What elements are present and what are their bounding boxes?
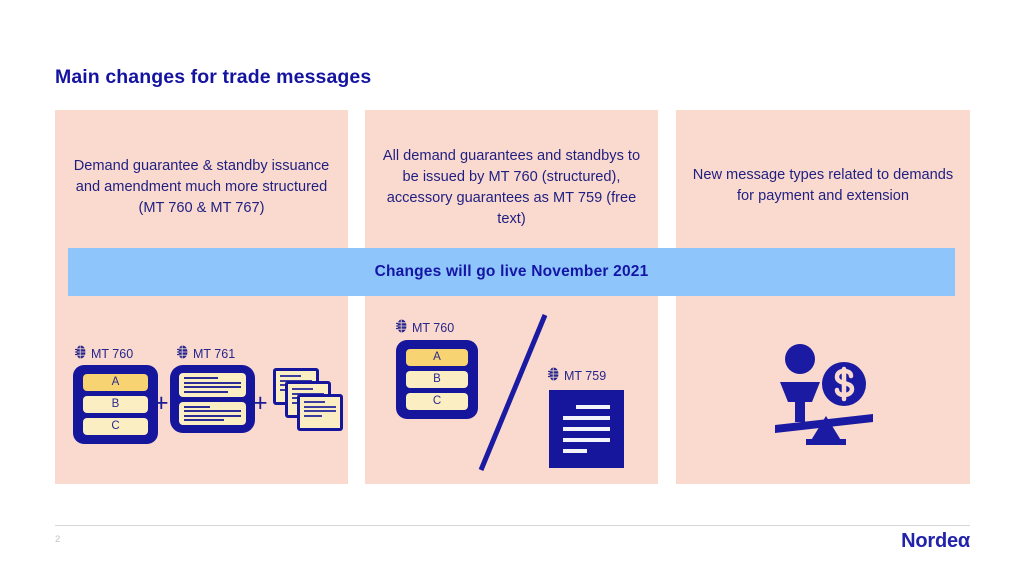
text-line [563,449,587,453]
panel-demand-guarantee: Demand guarantee & standby issuance and … [55,110,348,484]
globe-icon [396,319,407,336]
text-line [292,388,313,390]
globe-icon [548,367,559,384]
stacked-documents-group [273,368,343,438]
panel-3-text: New message types related to demands for… [686,165,960,207]
text-line [184,406,210,408]
text-line [184,377,218,379]
abc-row-b: B [406,371,468,388]
text-line [563,427,610,431]
go-live-banner: Changes will go live November 2021 [68,248,955,296]
doc-block-lower [179,402,246,426]
label-mt760-left-text: MT 760 [91,347,133,361]
panel-issuance-rules: All demand guarantees and standbys to be… [365,110,658,484]
abc-row-b: B [83,396,148,413]
mt760-structured-card: A B C [396,340,478,419]
slash-divider-icon [473,310,553,480]
panel-new-message-types: New message types related to demands for… [676,110,970,484]
nordea-logo: Nordeα [901,530,970,553]
label-mt761-text: MT 761 [193,347,235,361]
abc-row-c: C [406,393,468,410]
label-mt759-text: MT 759 [564,369,606,383]
text-line [576,405,610,409]
doc-block-upper [179,373,246,397]
footer-divider [55,525,970,526]
go-live-banner-label: Changes will go live November 2021 [375,263,649,281]
text-line [563,416,610,420]
mt760-structured-card: A B C [73,365,158,444]
globe-icon [75,345,86,362]
text-line [304,410,336,412]
label-mt760-middle-text: MT 760 [412,321,454,335]
text-line [304,415,322,417]
text-line [184,386,241,388]
abc-row-c: C [83,418,148,435]
text-line [184,382,241,384]
panel-2-text: All demand guarantees and standbys to be… [375,146,648,230]
label-mt760-left: MT 760 [75,345,133,362]
text-line [184,410,241,412]
abc-row-a: A [406,349,468,366]
panel-1-text: Demand guarantee & standby issuance and … [65,156,338,219]
slide-canvas: Main changes for trade messages Demand g… [0,0,1024,576]
mt761-freetext-card [170,365,255,433]
page-title: Main changes for trade messages [55,66,371,89]
text-line [563,438,610,442]
text-line [304,406,336,408]
text-line [184,415,241,417]
globe-icon [177,345,188,362]
text-line [184,419,224,421]
label-mt760-middle: MT 760 [396,319,454,336]
mt759-freetext-document [549,390,624,468]
stacked-doc-3 [297,394,343,431]
balance-scale-dollar-icon [774,340,874,451]
plus-sign-2: + [253,391,268,416]
label-mt759: MT 759 [548,367,606,384]
page-number: 2 [55,534,60,545]
abc-row-a: A [83,374,148,391]
text-line [304,401,325,403]
text-line [184,391,228,393]
text-line [280,375,301,377]
plus-sign-1: + [154,391,169,416]
label-mt761: MT 761 [177,345,235,362]
